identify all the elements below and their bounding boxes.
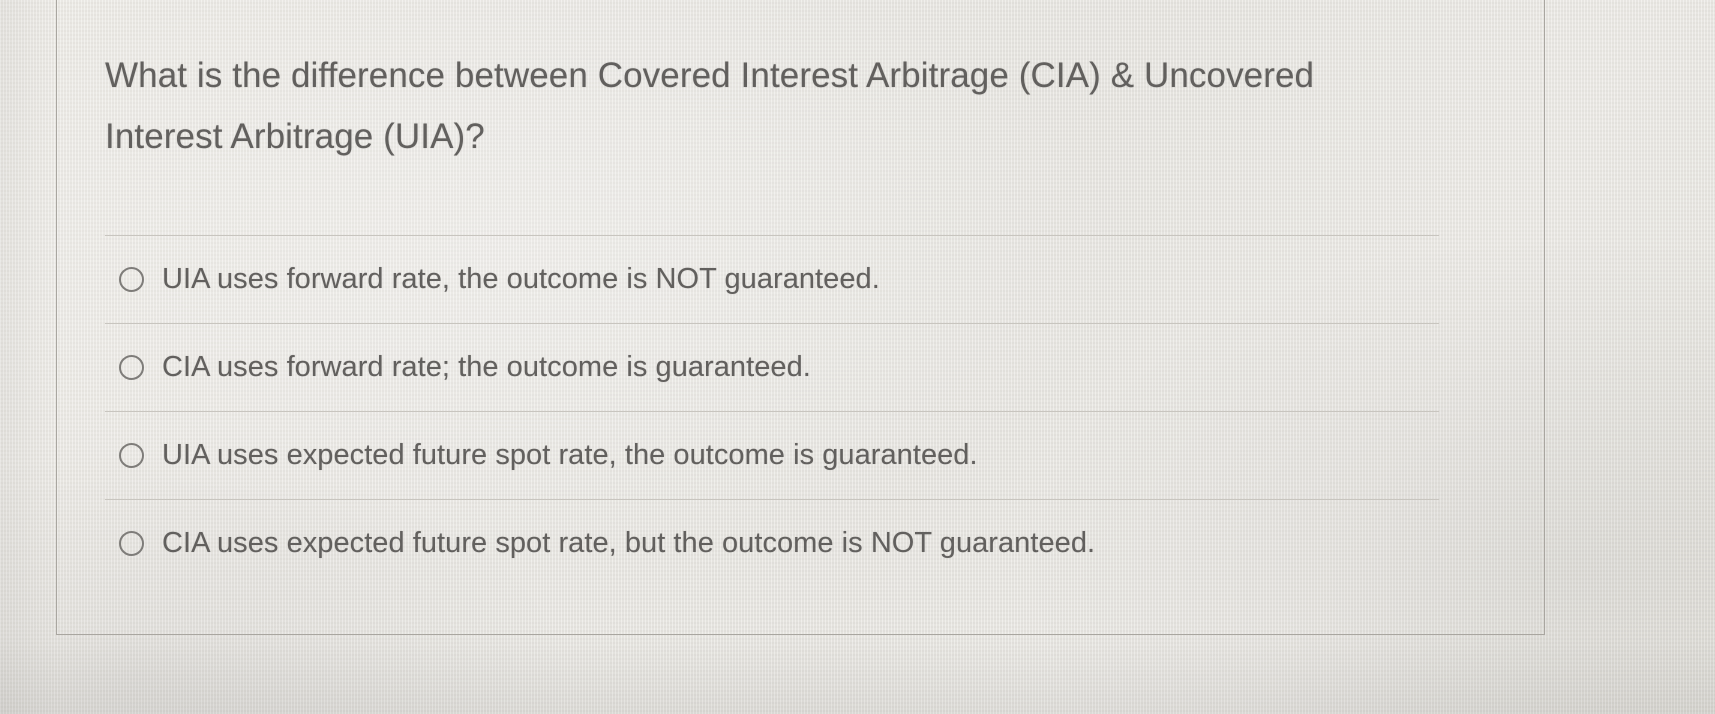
- left-margin-shadow: [0, 0, 56, 714]
- radio-unchecked-icon[interactable]: [119, 443, 144, 468]
- answer-option-b-label: CIA uses forward rate; the outcome is gu…: [162, 350, 811, 385]
- answer-option-c[interactable]: UIA uses expected future spot rate, the …: [105, 411, 1439, 499]
- radio-unchecked-icon[interactable]: [119, 267, 144, 292]
- radio-unchecked-icon[interactable]: [119, 355, 144, 380]
- answer-option-b[interactable]: CIA uses forward rate; the outcome is gu…: [105, 323, 1439, 411]
- question-card: What is the difference between Covered I…: [56, 0, 1545, 635]
- question-card-inner: What is the difference between Covered I…: [57, 0, 1544, 634]
- question-text: What is the difference between Covered I…: [105, 45, 1435, 168]
- answer-options-list: UIA uses forward rate, the outcome is NO…: [105, 235, 1439, 587]
- answer-option-d-label: CIA uses expected future spot rate, but …: [162, 526, 1095, 561]
- page-background: What is the difference between Covered I…: [0, 0, 1715, 714]
- answer-option-d[interactable]: CIA uses expected future spot rate, but …: [105, 499, 1439, 587]
- answer-option-c-label: UIA uses expected future spot rate, the …: [162, 438, 978, 473]
- radio-unchecked-icon[interactable]: [119, 531, 144, 556]
- answer-option-a-label: UIA uses forward rate, the outcome is NO…: [162, 262, 880, 297]
- answer-option-a[interactable]: UIA uses forward rate, the outcome is NO…: [105, 235, 1439, 323]
- bottom-margin-shadow: [0, 636, 1715, 714]
